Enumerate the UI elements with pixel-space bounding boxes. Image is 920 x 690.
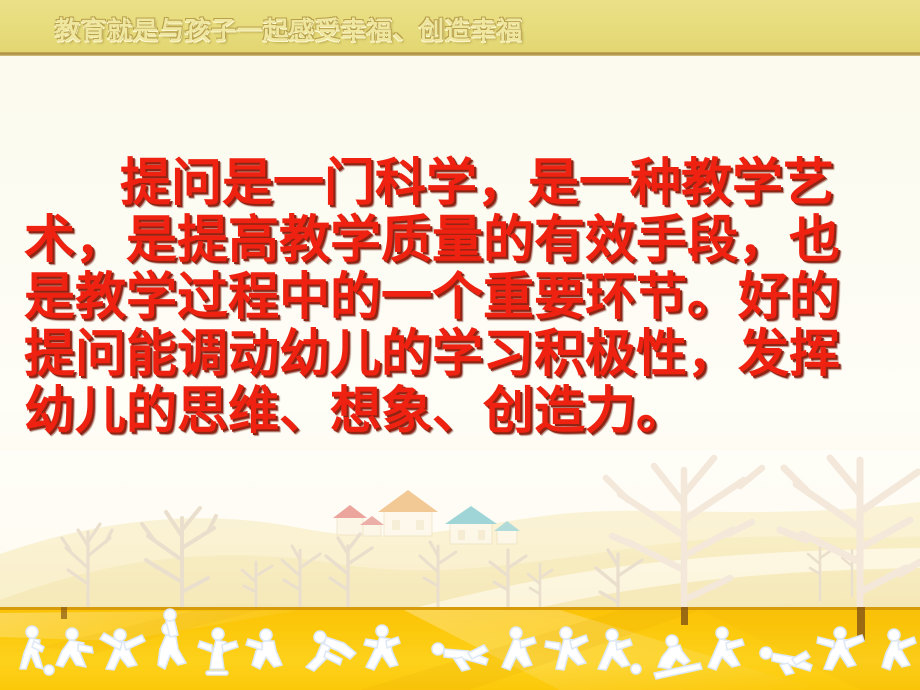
body-text-line-3: 是教学过程中的一个重要环节。好的 xyxy=(24,269,904,326)
sport-figure-soccer-kick xyxy=(598,629,641,674)
sport-figure-swimming xyxy=(306,631,356,671)
sport-figure-equestrian xyxy=(882,629,916,670)
band-light-streak xyxy=(404,610,820,690)
sport-figure-hurdles xyxy=(708,627,744,670)
sport-figure-running xyxy=(364,625,400,670)
tree-trunk-overlap xyxy=(857,607,865,641)
sport-figure-soccer-kick xyxy=(56,628,93,667)
band-shadow-streak xyxy=(40,610,260,653)
footer-band-artwork xyxy=(0,607,920,690)
sport-figure-soccer xyxy=(20,626,54,675)
slide-footer-band xyxy=(0,607,920,690)
sport-figure-diving xyxy=(432,643,488,671)
slide-header-title: 教育就是与孩子一起感受幸福、创造幸福 xyxy=(55,11,523,47)
body-text-line-2: 术，是提高教学质量的有效手段，也 xyxy=(24,212,904,269)
body-text-line-5: 幼儿的思维、想象、创造力。 xyxy=(24,383,904,440)
sport-figure-basketball xyxy=(158,609,186,669)
slide-body-text: 提问是一门科学，是一种教学艺 术，是提高教学质量的有效手段，也 是教学过程中的一… xyxy=(24,155,904,440)
sport-figure-rollerskating xyxy=(198,628,238,675)
sports-pictogram-row xyxy=(20,609,916,679)
sport-figure-gymnastics xyxy=(246,629,282,669)
band-shadow-streak xyxy=(360,610,700,690)
body-text-line-4: 提问能调动幼儿的学习积极性，发挥 xyxy=(24,326,904,383)
sport-figure-skating xyxy=(545,627,588,670)
footer-divider-rule xyxy=(0,607,920,610)
sport-figure-skiing xyxy=(654,635,702,679)
sport-figure-stretching xyxy=(817,627,864,670)
band-shadow-streak xyxy=(700,610,920,690)
sport-figure-throwing xyxy=(502,627,536,670)
presentation-slide: 教育就是与孩子一起感受幸福、创造幸福 xyxy=(0,0,920,690)
sport-figure-crawling xyxy=(760,647,812,675)
band-light-streak xyxy=(0,610,300,641)
sport-figure-volleyball xyxy=(100,629,145,670)
body-text-line-1: 提问是一门科学，是一种教学艺 xyxy=(24,155,904,212)
